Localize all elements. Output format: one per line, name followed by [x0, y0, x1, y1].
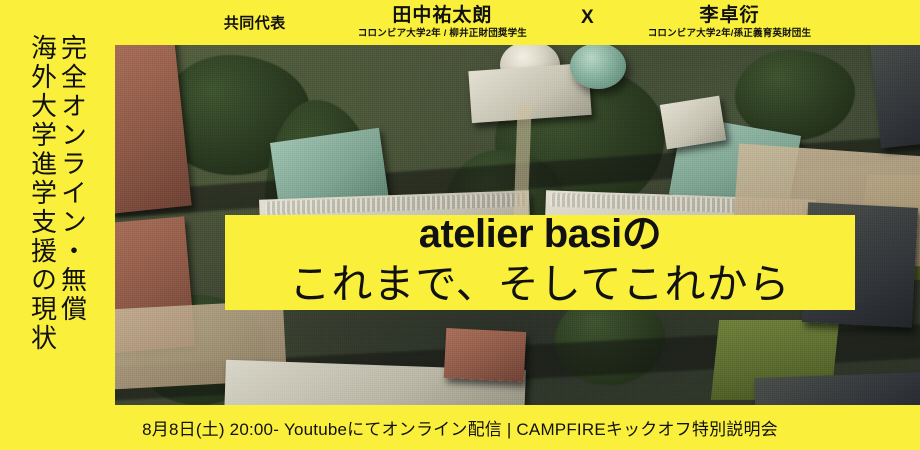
speaker-two-name: 李卓衍 [648, 6, 812, 26]
role-label: 共同代表 [224, 12, 286, 33]
title-line-one: atelier basiの [225, 214, 855, 254]
speaker-one-affiliation: コロンビア大学2年 / 柳井正財団奨学生 [358, 28, 527, 39]
speaker-credits: 共同代表 田中祐太朗 コロンビア大学2年 / 柳井正財団奨学生 X 李卓衍 コロ… [115, 0, 920, 45]
tagline-column-right: 完全オンライン・無償 [60, 34, 86, 324]
credits-separator: X [581, 7, 594, 39]
event-details-footer: 8月8日(土) 20:00- Youtubeにてオンライン配信 | CAMPFI… [0, 405, 920, 450]
title-line-two: これまで、そしてこれから [215, 262, 865, 307]
tagline-column-left: 海外大学進学支援の現状 [30, 34, 56, 353]
speaker-one-name: 田中祐太朗 [358, 6, 527, 26]
event-details-text: 8月8日(土) 20:00- Youtubeにてオンライン配信 | CAMPFI… [142, 415, 778, 440]
event-poster: 共同代表 田中祐太朗 コロンビア大学2年 / 柳井正財団奨学生 X 李卓衍 コロ… [0, 0, 920, 450]
speaker-two: 李卓衍 コロンビア大学2年/孫正義育英財団生 [648, 6, 812, 39]
speaker-one: 田中祐太朗 コロンビア大学2年 / 柳井正財団奨学生 [358, 6, 527, 39]
vertical-tagline: 完全オンライン・無償 海外大学進学支援の現状 [0, 34, 115, 424]
speaker-two-affiliation: コロンビア大学2年/孫正義育英財団生 [648, 28, 812, 39]
